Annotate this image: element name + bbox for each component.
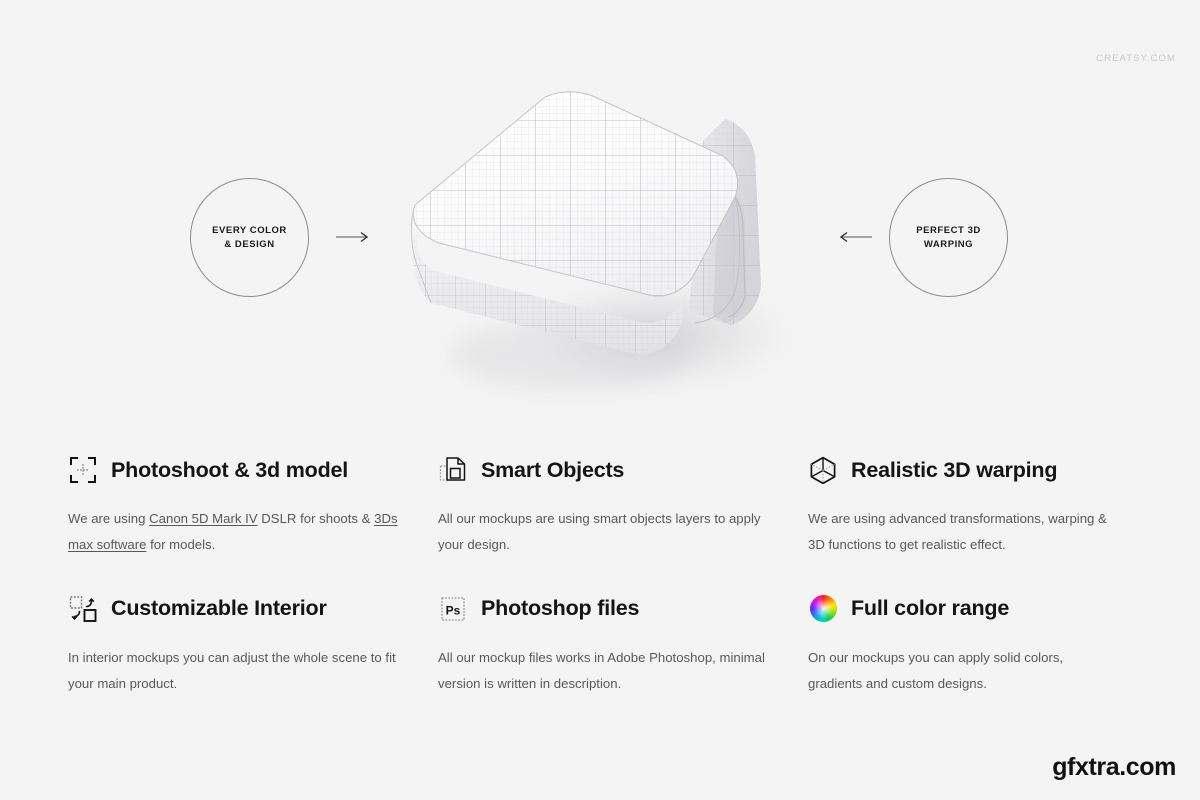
arrow-left-icon	[838, 230, 872, 244]
hero-stage: EVERY COLOR& DESIGN PERFECT 3DWARPING	[0, 0, 1200, 430]
feature-header: Full color range	[808, 587, 1108, 631]
feature-realistic-3d-warping: Realistic 3D warping We are using advanc…	[808, 448, 1132, 559]
feature-header: Ps Photoshop files	[438, 587, 784, 631]
feature-customizable-interior: Customizable Interior In interior mockup…	[68, 587, 438, 698]
feature-description: We are using advanced transformations, w…	[808, 506, 1108, 559]
svg-text:Ps: Ps	[446, 603, 461, 617]
feature-header: Photoshoot & 3d model	[68, 448, 414, 492]
feature-title: Full color range	[851, 596, 1009, 621]
feature-header: Smart Objects	[438, 448, 784, 492]
color-wheel-shape	[810, 595, 837, 622]
arrow-right-icon	[336, 230, 370, 244]
swap-squares-icon	[68, 594, 98, 624]
feature-title: Photoshop files	[481, 596, 639, 621]
product-mockup-folded-fabric	[395, 85, 815, 415]
feature-title: Smart Objects	[481, 458, 624, 483]
gfxtra-watermark: gfxtra.com	[1052, 753, 1176, 782]
photoshop-ps-icon: Ps	[438, 594, 468, 624]
feature-title: Customizable Interior	[111, 596, 327, 621]
feature-smart-objects: Smart Objects All our mockups are using …	[438, 448, 808, 559]
feature-header: Customizable Interior	[68, 587, 414, 631]
feature-description: All our mockups are using smart objects …	[438, 506, 768, 559]
feature-title: Realistic 3D warping	[851, 458, 1057, 483]
camera-focus-icon	[68, 455, 98, 485]
callout-every-color-design: EVERY COLOR& DESIGN	[190, 178, 309, 297]
feature-description: On our mockups you can apply solid color…	[808, 645, 1108, 698]
callout-perfect-3d-warping: PERFECT 3DWARPING	[889, 178, 1008, 297]
callout-left-text: EVERY COLOR& DESIGN	[212, 224, 287, 252]
feature-title: Photoshoot & 3d model	[111, 458, 348, 483]
callout-right-text: PERFECT 3DWARPING	[916, 224, 981, 252]
feature-full-color-range: Full color range On our mockups you can …	[808, 587, 1132, 698]
feature-header: Realistic 3D warping	[808, 448, 1108, 492]
feature-description: In interior mockups you can adjust the w…	[68, 645, 398, 698]
feature-photoshoot-3d-model: Photoshoot & 3d model We are using Canon…	[68, 448, 438, 559]
features-grid: Photoshoot & 3d model We are using Canon…	[0, 448, 1200, 698]
cube-3d-icon	[808, 455, 838, 485]
feature-description: We are using Canon 5D Mark IV DSLR for s…	[68, 506, 398, 559]
color-wheel-icon	[808, 594, 838, 624]
feature-photoshop-files: Ps Photoshop files All our mockup files …	[438, 587, 808, 698]
smart-object-icon	[438, 455, 468, 485]
feature-description: All our mockup files works in Adobe Phot…	[438, 645, 768, 698]
